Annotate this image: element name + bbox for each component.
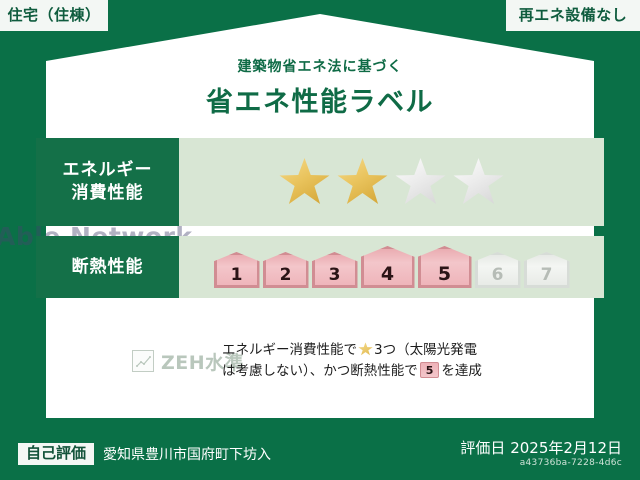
grade-value: 3 <box>329 265 341 285</box>
star-icon <box>337 157 389 207</box>
insulation-performance-label: 断熱性能 <box>36 236 179 298</box>
grade-value: 4 <box>381 263 394 285</box>
grade-badge: 7 <box>524 252 570 288</box>
grade-badge: 5 <box>418 246 472 288</box>
footer-bar: 自己評価 愛知県豊川市国府町下坊入 評価日 2025年2月12日 a43736b… <box>0 428 640 480</box>
zeh-desc-text-d: を達成 <box>441 363 482 379</box>
energy-performance-label: エネルギー 消費性能 <box>36 138 179 226</box>
evaluation-id: a43736ba-7228-4d6c <box>460 458 622 469</box>
grade-badge: 3 <box>312 252 358 288</box>
zeh-desc-text-a: エネルギー消費性能で <box>222 342 357 358</box>
zeh-description: エネルギー消費性能で3つ（太陽光発電 は考慮しない）、かつ断熱性能で5を達成 <box>222 340 482 382</box>
property-address: 愛知県豊川市国府町下坊入 <box>103 444 271 464</box>
zeh-desc-text-c: は考慮しない）、かつ断熱性能で <box>222 363 418 379</box>
insulation-label-text: 断熱性能 <box>72 256 144 279</box>
renewable-equipment-badge: 再エネ設備なし <box>506 0 640 31</box>
building-type-badge: 住宅（住棟） <box>0 0 108 31</box>
inline-grade-badge: 5 <box>420 362 440 378</box>
footer-right: 評価日 2025年2月12日 a43736ba-7228-4d6c <box>460 439 622 469</box>
zeh-description-line2: は考慮しない）、かつ断熱性能で5を達成 <box>222 361 482 382</box>
footer-left: 自己評価 愛知県豊川市国府町下坊入 <box>18 443 271 465</box>
insulation-performance-row: 断熱性能 1 2 3 4 5 6 7 <box>36 236 604 298</box>
insulation-grade-scale: 1 2 3 4 5 6 7 <box>179 236 604 298</box>
grade-value: 2 <box>280 265 292 285</box>
zeh-mark: ZEH水準 <box>36 348 222 375</box>
grade-row: 1 2 3 4 5 6 7 <box>214 246 570 288</box>
energy-performance-row: エネルギー 消費性能 <box>36 138 604 226</box>
zeh-description-line1: エネルギー消費性能で3つ（太陽光発電 <box>222 340 482 361</box>
title-subtitle: 建築物省エネ法に基づく <box>0 56 640 76</box>
building-type-label: 住宅（住棟） <box>7 8 100 23</box>
star-icon <box>279 157 331 207</box>
grade-badge: 2 <box>263 252 309 288</box>
star-icon <box>453 157 505 207</box>
energy-performance-label: 住宅（住棟） 再エネ設備なし 建築物省エネ法に基づく 省エネ性能ラベル Able… <box>0 0 640 480</box>
star-icon <box>395 157 447 207</box>
zeh-standard-row: ZEH水準 エネルギー消費性能で3つ（太陽光発電 は考慮しない）、かつ断熱性能で… <box>36 332 604 390</box>
grade-value: 7 <box>541 265 553 285</box>
evaluation-date: 評価日 2025年2月12日 <box>460 439 622 458</box>
page-title: 建築物省エネ法に基づく 省エネ性能ラベル <box>0 56 640 119</box>
energy-label-line1: エネルギー <box>63 159 153 182</box>
star-icon <box>358 342 373 356</box>
energy-label-line2: 消費性能 <box>72 182 144 205</box>
zeh-desc-text-b: 3つ（太陽光発電 <box>374 342 477 358</box>
grade-value: 6 <box>492 265 504 285</box>
self-evaluation-badge: 自己評価 <box>18 443 94 465</box>
grade-value: 5 <box>438 263 451 285</box>
grade-value: 1 <box>231 265 243 285</box>
grade-badge: 1 <box>214 252 260 288</box>
zeh-chart-icon <box>132 350 154 372</box>
energy-star-rating <box>179 138 604 226</box>
title-main: 省エネ性能ラベル <box>0 80 640 119</box>
renewable-equipment-label: 再エネ設備なし <box>519 8 628 23</box>
grade-badge: 6 <box>475 252 521 288</box>
grade-badge: 4 <box>361 246 415 288</box>
